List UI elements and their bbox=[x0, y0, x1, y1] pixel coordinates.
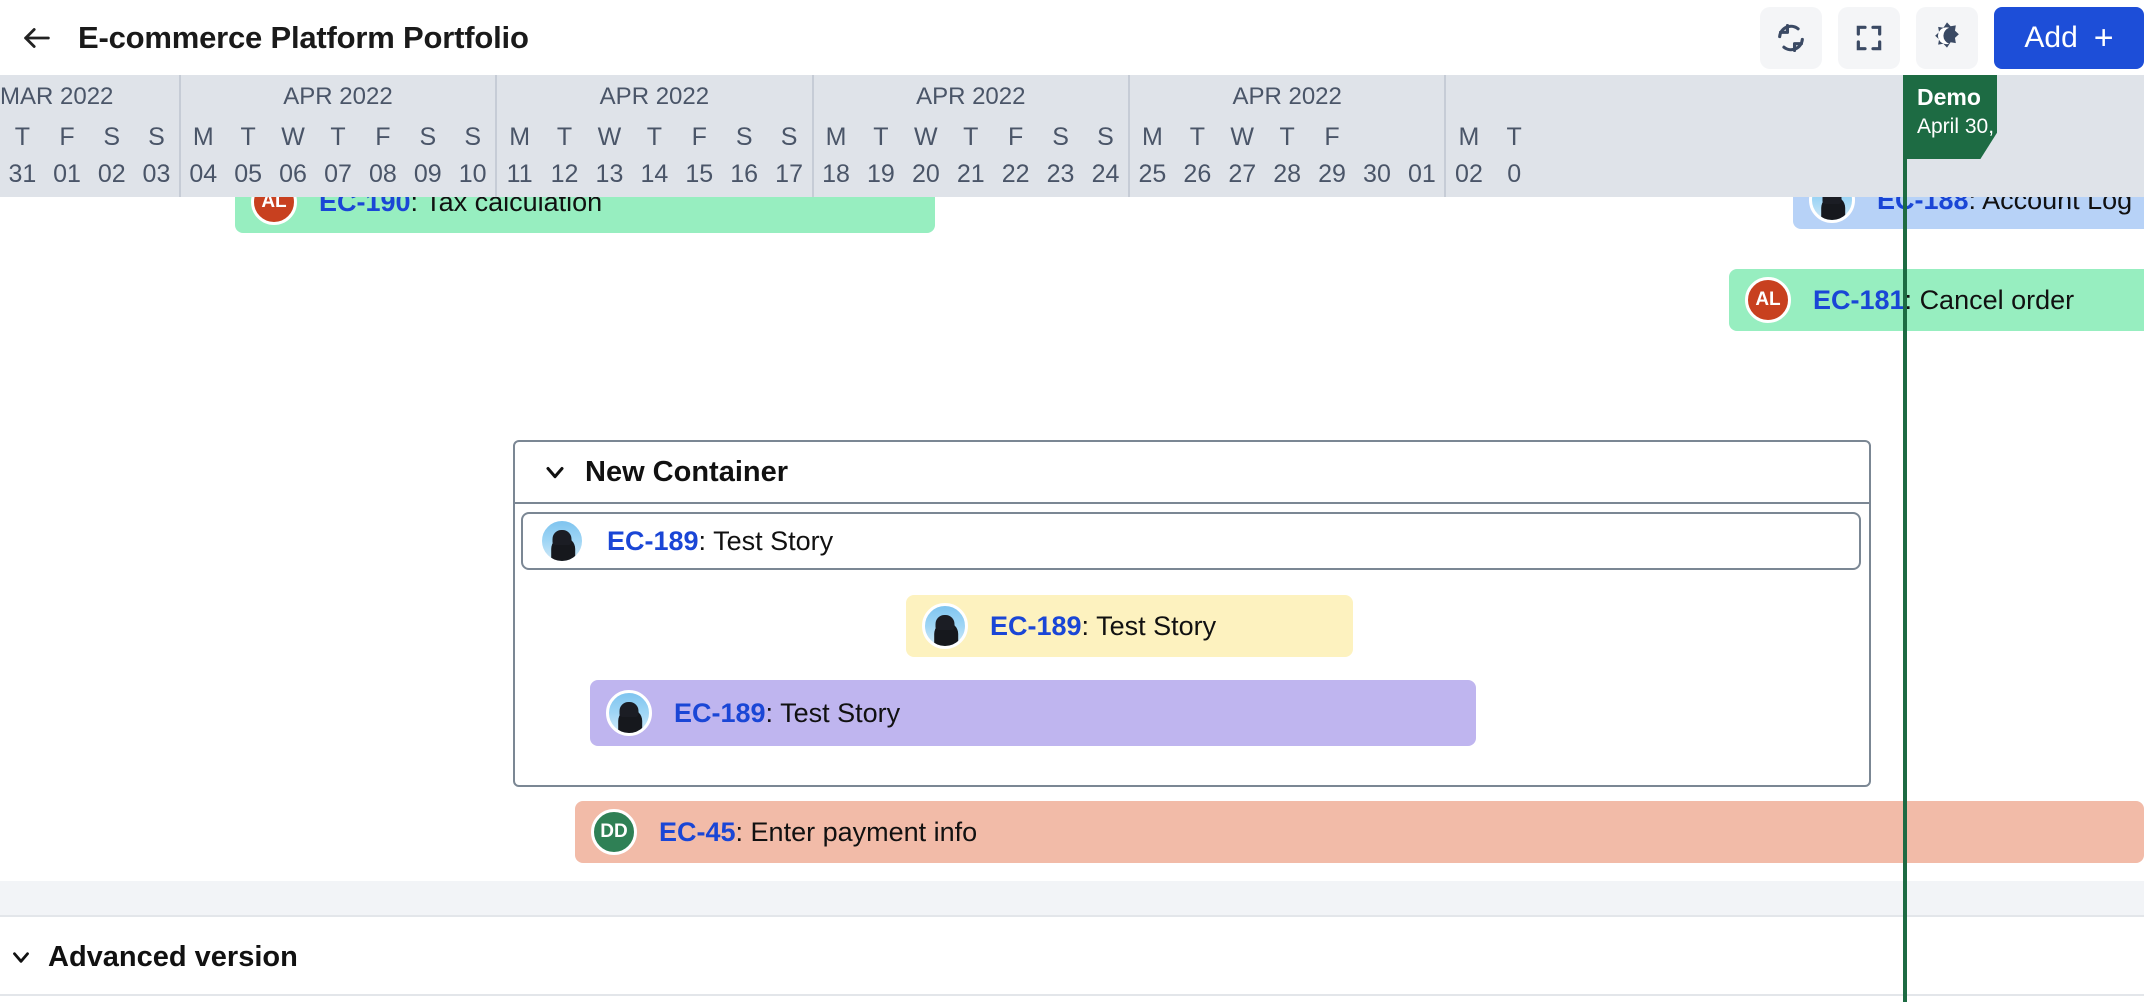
issue-key[interactable]: EC-45 bbox=[659, 817, 736, 847]
timeline-day-row: M04T05W06T07F08S09S10 bbox=[181, 119, 495, 197]
day-number: 05 bbox=[234, 155, 262, 193]
timeline-day-cell[interactable]: M18 bbox=[814, 119, 859, 197]
timeline-day-row: M25T26W27T28F293001 bbox=[1130, 119, 1444, 197]
timeline-month-label bbox=[1446, 75, 1536, 119]
timeline-day-cell[interactable]: 01 bbox=[1399, 119, 1444, 197]
separator: : bbox=[699, 526, 714, 556]
issue-summary: Enter payment info bbox=[751, 817, 978, 847]
marker-date: April 30, 2022 bbox=[1917, 112, 1983, 142]
day-number: 08 bbox=[369, 155, 397, 193]
add-button-label: Add bbox=[2024, 21, 2077, 55]
timeline-day-cell[interactable]: S23 bbox=[1038, 119, 1083, 197]
timeline-day-cell[interactable]: M04 bbox=[181, 119, 226, 197]
issue-key[interactable]: EC-189 bbox=[607, 526, 699, 556]
arrow-left-icon bbox=[20, 21, 54, 55]
day-number: 03 bbox=[143, 155, 171, 193]
separator: : bbox=[411, 197, 426, 217]
separator: : bbox=[736, 817, 751, 847]
issue-key[interactable]: EC-189 bbox=[674, 698, 766, 728]
container-body: EC-189: Test Story EC-189: Test Story EC… bbox=[515, 504, 1869, 734]
timeline-week: APR 2022M11T12W13T14F15S16S17 bbox=[497, 75, 813, 197]
avatar-initials: AL bbox=[1755, 289, 1780, 311]
marker-title: Demo bbox=[1917, 82, 1983, 112]
avatar bbox=[606, 690, 652, 736]
bar-label: EC-189: Test Story bbox=[674, 698, 900, 729]
timeline-month-label: APR 2022 bbox=[1130, 75, 1444, 119]
timeline-day-cell[interactable]: M25 bbox=[1130, 119, 1175, 197]
day-number: 27 bbox=[1228, 155, 1256, 193]
day-of-week: M bbox=[1142, 119, 1163, 155]
bar-label: EC-189: Test Story bbox=[607, 526, 833, 557]
bar-ec-188[interactable]: EC-188: Account Log bbox=[1793, 197, 2144, 229]
avatar-initials: AL bbox=[261, 197, 286, 213]
chevron-down-icon[interactable] bbox=[541, 458, 569, 486]
bar-label: EC-189: Test Story bbox=[990, 611, 1216, 642]
bar-label: EC-45: Enter payment info bbox=[659, 817, 977, 848]
timeline-week: APR 2022M25T26W27T28F293001 bbox=[1130, 75, 1446, 197]
timeline-marker-demo[interactable]: Demo April 30, 2022 bbox=[1903, 75, 1997, 159]
day-of-week: T bbox=[647, 119, 662, 155]
day-number: 16 bbox=[730, 155, 758, 193]
timeline-day-cell[interactable]: W13 bbox=[587, 119, 632, 197]
timeline-day-cell[interactable]: 30 bbox=[1355, 119, 1400, 197]
day-of-week: W bbox=[1230, 119, 1254, 155]
day-of-week: T bbox=[1507, 119, 1522, 155]
day-number: 23 bbox=[1047, 155, 1075, 193]
refresh-icon bbox=[1774, 21, 1808, 55]
issue-summary: Cancel order bbox=[1920, 285, 2075, 315]
moon-brightness-icon bbox=[1929, 20, 1965, 56]
timeline-marker-line bbox=[1903, 75, 1907, 1002]
bar-ec-181[interactable]: AL EC-181: Cancel order bbox=[1729, 269, 2144, 331]
section-title: Advanced version bbox=[48, 941, 298, 974]
issue-summary: Test Story bbox=[1096, 611, 1216, 641]
bar-ec-189-white[interactable]: EC-189: Test Story bbox=[521, 512, 1861, 570]
day-of-week: S bbox=[781, 119, 798, 155]
day-number: 02 bbox=[1455, 155, 1483, 193]
day-of-week: T bbox=[963, 119, 978, 155]
day-number: 28 bbox=[1273, 155, 1301, 193]
issue-key[interactable]: EC-189 bbox=[990, 611, 1082, 641]
timeline-day-cell[interactable]: S17 bbox=[767, 119, 812, 197]
day-of-week: F bbox=[375, 119, 390, 155]
timeline-week: APR 2022M18T19W20T21F22S23S24 bbox=[814, 75, 1130, 197]
issue-key[interactable]: EC-181 bbox=[1813, 285, 1905, 315]
bar-label: EC-181: Cancel order bbox=[1813, 285, 2074, 316]
timeline-day-row: M02T0 bbox=[1446, 119, 1536, 197]
timeline-day-cell[interactable]: S03 bbox=[134, 119, 179, 197]
divider bbox=[0, 994, 2144, 996]
timeline-day-cell[interactable]: T31 bbox=[0, 119, 45, 197]
chevron-down-icon[interactable] bbox=[8, 944, 34, 970]
timeline-day-cell[interactable]: W20 bbox=[903, 119, 948, 197]
day-number: 10 bbox=[459, 155, 487, 193]
timeline-week: MAR 2022T31F01S02S03 bbox=[0, 75, 181, 197]
day-of-week: S bbox=[464, 119, 481, 155]
timeline-day-cell[interactable]: M11 bbox=[497, 119, 542, 197]
day-of-week: M bbox=[826, 119, 847, 155]
timeline-day-cell[interactable]: F22 bbox=[993, 119, 1038, 197]
divider bbox=[0, 915, 2144, 917]
day-of-week: T bbox=[1280, 119, 1295, 155]
day-of-week: T bbox=[557, 119, 572, 155]
day-number: 12 bbox=[551, 155, 579, 193]
day-number: 18 bbox=[822, 155, 850, 193]
bar-ec-189-purple[interactable]: EC-189: Test Story bbox=[590, 680, 1476, 746]
day-number: 25 bbox=[1139, 155, 1167, 193]
container-title: New Container bbox=[585, 456, 788, 489]
day-of-week: S bbox=[419, 119, 436, 155]
avatar: DD bbox=[591, 809, 637, 855]
bar-label: EC-188: Account Log bbox=[1877, 197, 2132, 216]
day-of-week: F bbox=[59, 119, 74, 155]
day-number: 30 bbox=[1363, 155, 1391, 193]
fullscreen-button[interactable] bbox=[1838, 7, 1900, 69]
avatar bbox=[539, 518, 585, 564]
timeline-day-row: M11T12W13T14F15S16S17 bbox=[497, 119, 811, 197]
avatar-initials: DD bbox=[600, 821, 627, 843]
timeline-day-cell[interactable]: F01 bbox=[45, 119, 90, 197]
timeline-day-cell[interactable]: W27 bbox=[1220, 119, 1265, 197]
day-number: 14 bbox=[640, 155, 668, 193]
issue-summary: Tax calculation bbox=[425, 197, 602, 217]
top-bar: E-commerce Platform Portfolio bbox=[0, 0, 2144, 75]
bar-ec-189-yellow[interactable]: EC-189: Test Story bbox=[906, 595, 1353, 657]
day-of-week: M bbox=[1459, 119, 1480, 155]
page-title: E-commerce Platform Portfolio bbox=[78, 20, 529, 56]
day-number: 01 bbox=[53, 155, 81, 193]
day-of-week: T bbox=[330, 119, 345, 155]
timeline-day-cell[interactable]: S02 bbox=[89, 119, 134, 197]
timeline-day-cell[interactable]: S16 bbox=[722, 119, 767, 197]
timeline-day-cell[interactable]: T05 bbox=[226, 119, 271, 197]
timeline-day-cell[interactable]: T0 bbox=[1492, 119, 1537, 197]
section-advanced-version[interactable]: Advanced version bbox=[0, 922, 2144, 992]
day-of-week: T bbox=[873, 119, 888, 155]
day-of-week: S bbox=[103, 119, 120, 155]
separator: : bbox=[1969, 197, 1983, 215]
day-number: 04 bbox=[189, 155, 217, 193]
toolbar-actions: Add + bbox=[1760, 7, 2144, 69]
day-of-week: F bbox=[692, 119, 707, 155]
timeline-month-label: MAR 2022 bbox=[0, 75, 179, 119]
timeline-day-row: T31F01S02S03 bbox=[0, 119, 179, 197]
container-new-container[interactable]: New Container EC-189: Test Story EC-189:… bbox=[513, 440, 1871, 787]
timeline-day-cell[interactable]: S24 bbox=[1083, 119, 1128, 197]
timeline-month-label: APR 2022 bbox=[814, 75, 1128, 119]
issue-summary: Test Story bbox=[780, 698, 900, 728]
timeline-week: APR 2022M04T05W06T07F08S09S10 bbox=[181, 75, 497, 197]
refresh-button[interactable] bbox=[1760, 7, 1822, 69]
day-number: 17 bbox=[775, 155, 803, 193]
day-of-week: W bbox=[598, 119, 622, 155]
day-number: 11 bbox=[507, 155, 533, 193]
timeline-day-cell[interactable]: S09 bbox=[405, 119, 450, 197]
plus-icon: + bbox=[2094, 21, 2114, 55]
day-number: 07 bbox=[324, 155, 352, 193]
day-of-week: W bbox=[914, 119, 938, 155]
day-number: 0 bbox=[1507, 155, 1521, 193]
day-of-week: T bbox=[241, 119, 256, 155]
timeline-day-cell[interactable]: S10 bbox=[450, 119, 495, 197]
timeline-day-cell[interactable]: M02 bbox=[1446, 119, 1491, 197]
timeline-week: M02T0 bbox=[1446, 75, 1536, 197]
bar-ec-45[interactable]: DD EC-45: Enter payment info bbox=[575, 801, 2144, 863]
day-number: 31 bbox=[8, 155, 36, 193]
separator: : bbox=[1082, 611, 1097, 641]
day-number: 26 bbox=[1183, 155, 1211, 193]
gantt-chart-body: AL EC-190: Tax calculation EC-188: Accou… bbox=[0, 197, 2144, 1002]
day-of-week: T bbox=[1190, 119, 1205, 155]
day-number: 01 bbox=[1408, 155, 1436, 193]
day-of-week: S bbox=[148, 119, 165, 155]
fullscreen-icon bbox=[1853, 22, 1885, 54]
bar-ec-190[interactable]: AL EC-190: Tax calculation bbox=[235, 197, 935, 233]
timeline-day-cell[interactable]: W06 bbox=[271, 119, 316, 197]
day-number: 20 bbox=[912, 155, 940, 193]
back-button[interactable] bbox=[14, 15, 60, 61]
day-number: 15 bbox=[685, 155, 713, 193]
timeline-day-cell[interactable]: T21 bbox=[948, 119, 993, 197]
issue-summary: Test Story bbox=[713, 526, 833, 556]
avatar: AL bbox=[251, 197, 297, 225]
timeline-month-label: APR 2022 bbox=[497, 75, 811, 119]
day-of-week: S bbox=[1097, 119, 1114, 155]
day-number: 29 bbox=[1318, 155, 1346, 193]
day-of-week: M bbox=[509, 119, 530, 155]
day-number: 24 bbox=[1092, 155, 1120, 193]
container-header[interactable]: New Container bbox=[515, 442, 1869, 504]
day-of-week: M bbox=[193, 119, 214, 155]
timeline-day-cell[interactable]: T19 bbox=[858, 119, 903, 197]
timeline-header[interactable]: MAR 2022T31F01S02S03APR 2022M04T05W06T07… bbox=[0, 75, 2144, 197]
day-of-week: T bbox=[15, 119, 30, 155]
timeline-day-cell[interactable]: F08 bbox=[360, 119, 405, 197]
timeline-day-cell[interactable]: T14 bbox=[632, 119, 677, 197]
timeline-day-cell[interactable]: T26 bbox=[1175, 119, 1220, 197]
timeline-day-cell[interactable]: F15 bbox=[677, 119, 722, 197]
issue-summary: Account Log bbox=[1982, 197, 2132, 215]
timeline-month-label: APR 2022 bbox=[181, 75, 495, 119]
avatar: AL bbox=[1745, 277, 1791, 323]
avatar bbox=[1809, 197, 1855, 223]
avatar bbox=[922, 603, 968, 649]
timeline-day-cell[interactable]: T28 bbox=[1265, 119, 1310, 197]
day-number: 06 bbox=[279, 155, 307, 193]
separator: : bbox=[766, 698, 781, 728]
day-of-week: F bbox=[1008, 119, 1023, 155]
timeline-day-cell[interactable]: T07 bbox=[316, 119, 361, 197]
day-number: 21 bbox=[957, 155, 985, 193]
day-of-week: W bbox=[281, 119, 305, 155]
day-number: 19 bbox=[867, 155, 895, 193]
row-stripe bbox=[0, 881, 2144, 915]
issue-key[interactable]: EC-190 bbox=[319, 197, 411, 217]
day-of-week: S bbox=[736, 119, 753, 155]
day-number: 13 bbox=[596, 155, 624, 193]
day-of-week: S bbox=[1052, 119, 1069, 155]
timeline-day-cell[interactable]: T12 bbox=[542, 119, 587, 197]
timeline-day-row: M18T19W20T21F22S23S24 bbox=[814, 119, 1128, 197]
dark-mode-button[interactable] bbox=[1916, 7, 1978, 69]
day-number: 02 bbox=[98, 155, 126, 193]
issue-key[interactable]: EC-188 bbox=[1877, 197, 1969, 215]
day-of-week: F bbox=[1324, 119, 1339, 155]
bar-label: EC-190: Tax calculation bbox=[319, 197, 602, 218]
day-number: 09 bbox=[414, 155, 442, 193]
add-button[interactable]: Add + bbox=[1994, 7, 2144, 69]
timeline-day-cell[interactable]: F29 bbox=[1310, 119, 1355, 197]
day-number: 22 bbox=[1002, 155, 1030, 193]
